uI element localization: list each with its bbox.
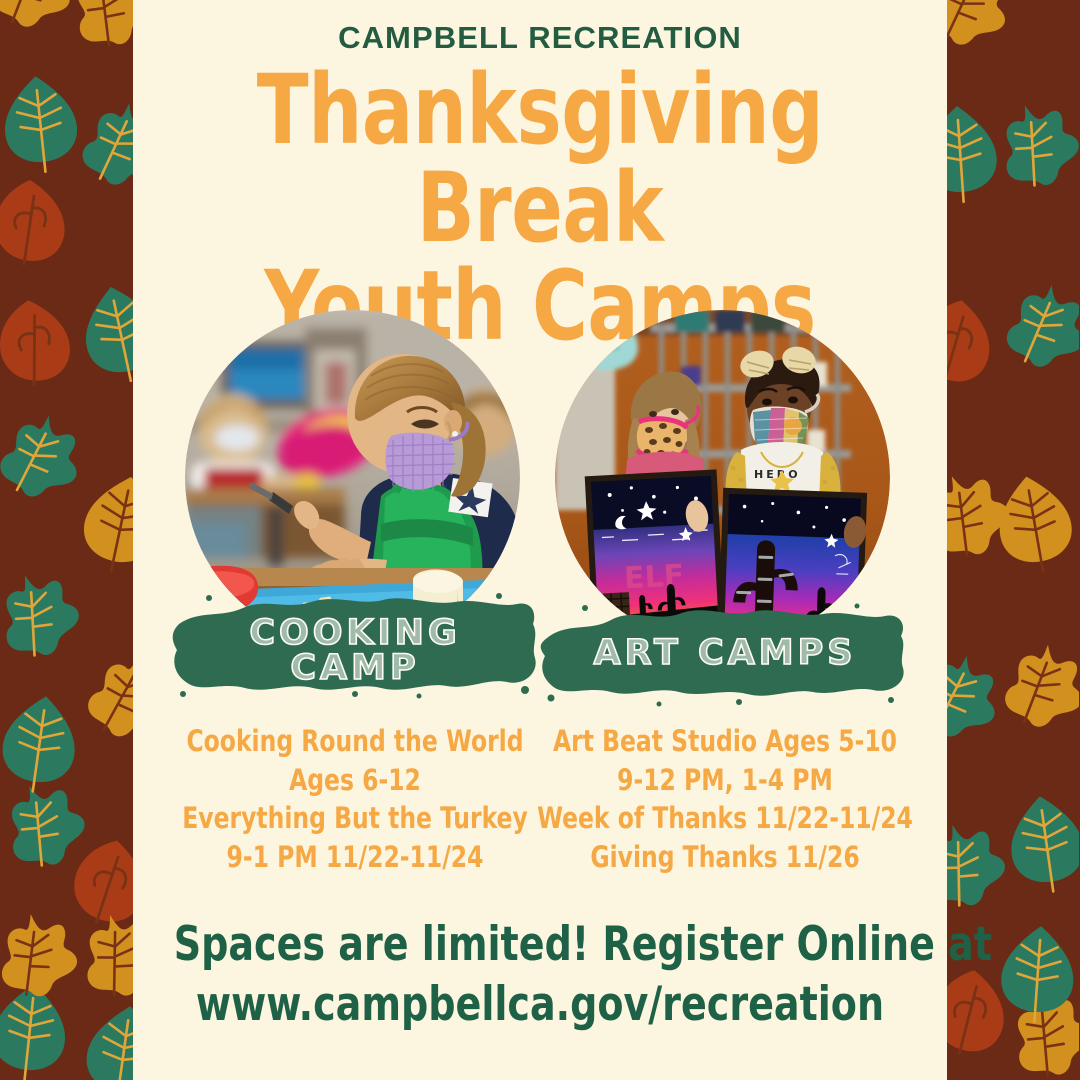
art-detail-2: Week of Thanks 11/22-11/24 <box>536 799 914 838</box>
left-leaf-border <box>0 0 133 1080</box>
flyer-canvas: CAMPBELL RECREATION Thanksgiving Break Y… <box>0 0 1080 1080</box>
cooking-label-line-2: CAMP <box>185 651 525 686</box>
svg-text:ELF: ELF <box>623 558 685 596</box>
art-detail-0: Art Beat Studio Ages 5-10 <box>536 722 914 761</box>
cooking-detail-1: Ages 6-12 <box>166 761 544 800</box>
art-camp-details: Art Beat Studio Ages 5-10 9-12 PM, 1-4 P… <box>536 722 914 876</box>
cooking-detail-3: 9-1 PM 11/22-11/24 <box>166 838 544 877</box>
cooking-detail-2: Everything But the Turkey <box>166 799 544 838</box>
art-camp-label: ART CAMPS <box>555 636 895 671</box>
cooking-label-line-1: COOKING <box>185 616 525 651</box>
cooking-camp-photo <box>185 310 520 645</box>
registration-callout: Spaces are limited! Register Online at <box>174 915 907 975</box>
camp-card-cooking: COOKING CAMP <box>185 310 525 710</box>
art-detail-1: 9-12 PM, 1-4 PM <box>536 761 914 800</box>
registration-footer: Spaces are limited! Register Online at w… <box>174 915 907 1034</box>
title-line-1: Thanksgiving Break <box>257 54 823 264</box>
cooking-camp-label: COOKING CAMP <box>185 616 525 686</box>
art-detail-3: Giving Thanks 11/26 <box>536 838 914 877</box>
organization-eyebrow: CAMPBELL RECREATION <box>133 20 947 56</box>
cooking-detail-0: Cooking Round the World <box>166 722 544 761</box>
art-label-line-1: ART CAMPS <box>555 636 895 671</box>
art-camp-photo: HERO <box>555 310 890 645</box>
registration-url[interactable]: www.campbellca.gov/recreation <box>174 975 907 1035</box>
cooking-camp-details: Cooking Round the World Ages 6-12 Everyt… <box>166 722 544 876</box>
camp-card-art: HERO <box>555 310 895 710</box>
camps-section: COOKING CAMP <box>133 310 947 710</box>
